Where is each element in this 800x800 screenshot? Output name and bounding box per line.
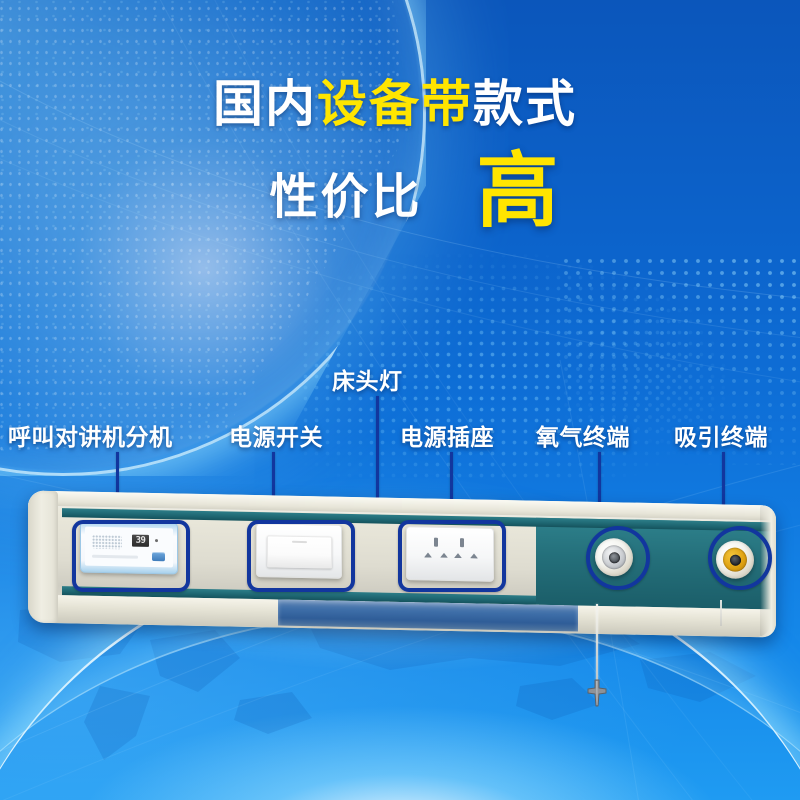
poster-canvas: 国内设备带款式 性价比 高 呼叫对讲机分机 电源开关 床头灯 电源插座 氧气终端… [0,0,800,800]
highlight-box-oxygen [586,526,650,590]
pull-cord-line [596,604,598,682]
callout-labels: 呼叫对讲机分机 电源开关 床头灯 电源插座 氧气终端 吸引终端 [0,0,800,800]
callout-label-intercom: 呼叫对讲机分机 [8,418,173,452]
callout-label-oxygen: 氧气终端 [536,418,630,452]
callout-label-power-switch: 电源开关 [229,418,323,452]
highlight-box-intercom [72,520,190,592]
suction-cord-line [720,600,722,626]
medical-equipment-panel: 39 [28,498,776,630]
callout-label-power-socket: 电源插座 [400,418,494,452]
callout-label-bed-lamp: 床头灯 [332,362,403,396]
callout-label-suction: 吸引终端 [674,418,768,452]
highlight-box-power-switch [247,520,355,592]
pull-cord-pendant-icon[interactable] [580,676,614,710]
highlight-box-power-socket [398,520,506,592]
panel-end-cap-left [28,490,58,623]
highlight-box-suction [708,526,772,590]
